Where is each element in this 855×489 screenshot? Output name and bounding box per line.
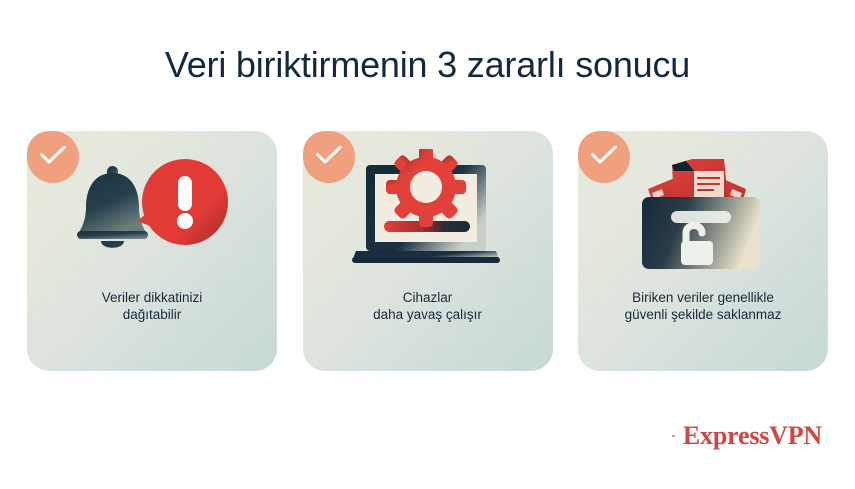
card-caption: Cihazlar daha yavaş çalışır xyxy=(315,289,541,323)
expressvpn-e-mark-icon xyxy=(672,419,675,453)
caption-line-2: daha yavaş çalışır xyxy=(315,306,541,323)
card-caption: Biriken veriler genellikle güvenli şekil… xyxy=(590,289,816,323)
check-icon xyxy=(40,146,66,166)
alert-bubble-shape xyxy=(137,159,228,245)
caption-line-1: Cihazlar xyxy=(403,290,453,305)
caption-line-1: Veriler dikkatinizi xyxy=(102,290,203,305)
card-caption: Veriler dikkatinizi dağıtabilir xyxy=(39,289,265,323)
bell-alert-icon xyxy=(67,149,237,279)
bell-shape xyxy=(77,166,148,248)
infographic-root: Veri biriktirmenin 3 zararlı sonucu xyxy=(0,0,855,489)
unlocked-file-box-icon xyxy=(628,149,778,279)
card-insecure-storage: Biriken veriler genellikle güvenli şekil… xyxy=(578,131,828,371)
check-badge xyxy=(303,131,355,183)
expressvpn-logo: ExpressVPN xyxy=(672,414,822,458)
logo-wordmark: ExpressVPN xyxy=(683,423,822,449)
gear-icon xyxy=(386,149,466,227)
caption-line-2: güvenli şekilde saklanmaz xyxy=(590,306,816,323)
caption-line-1: Biriken veriler genellikle xyxy=(632,290,774,305)
check-badge xyxy=(578,131,630,183)
caption-line-2: dağıtabilir xyxy=(39,306,265,323)
laptop-gear-loading-icon xyxy=(348,149,508,279)
cards-row: Veriler dikkatinizi dağıtabilir xyxy=(27,131,828,371)
card-data-distraction: Veriler dikkatinizi dağıtabilir xyxy=(27,131,277,371)
check-icon xyxy=(316,146,342,166)
check-badge xyxy=(27,131,79,183)
page-title: Veri biriktirmenin 3 zararlı sonucu xyxy=(0,44,855,86)
card-slow-devices: Cihazlar daha yavaş çalışır xyxy=(303,131,553,371)
check-icon xyxy=(591,146,617,166)
